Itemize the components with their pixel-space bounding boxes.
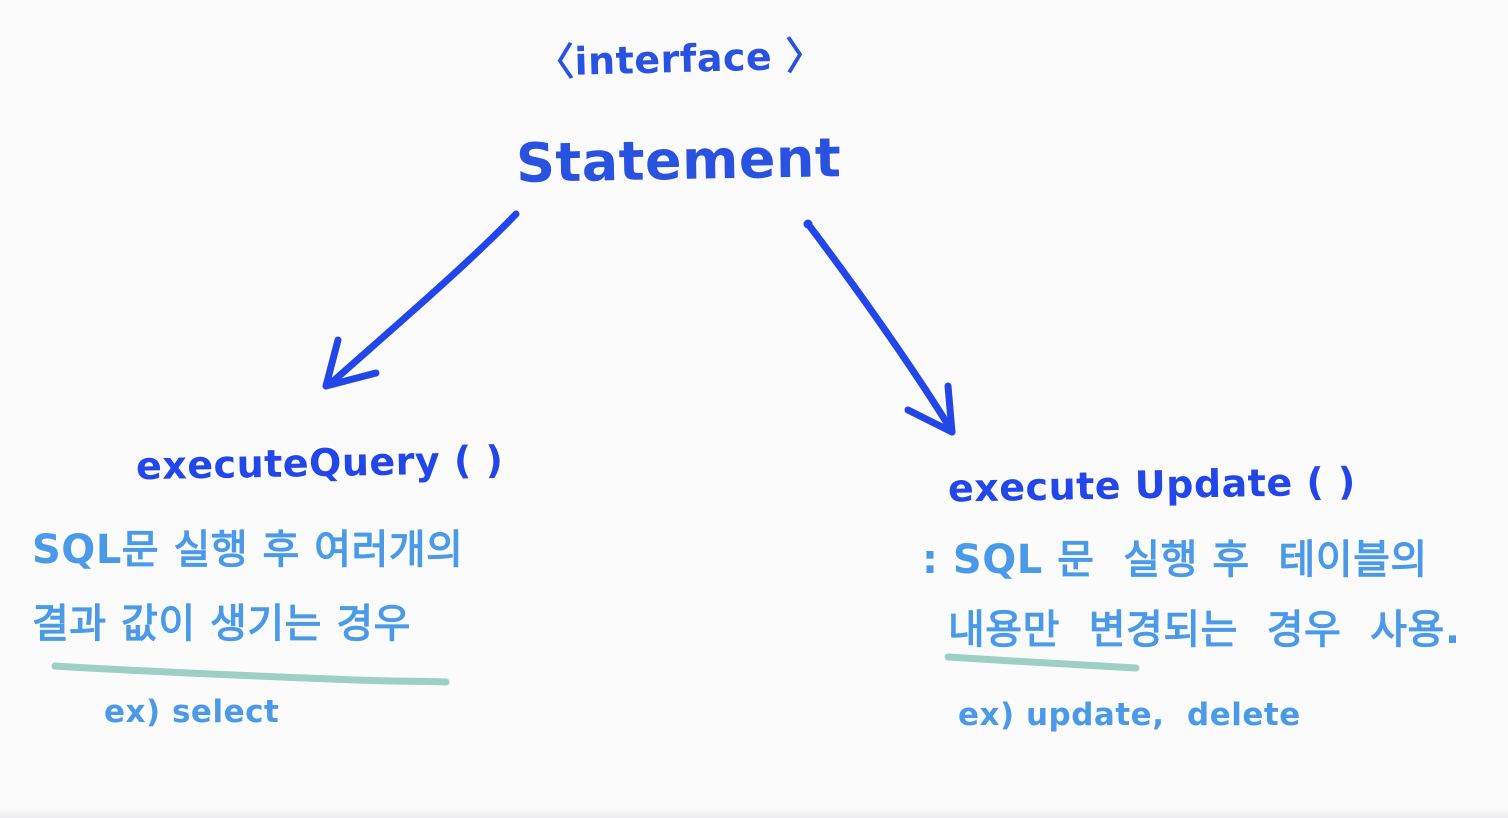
execute-query-description-line-2: 결과 값이 생기는 경우 [32,604,411,644]
arrow-to-execute-query [326,214,516,386]
arrow-to-execute-update [804,220,953,433]
execute-query-description-line-1: SQL문 실행 후 여러개의 [32,530,463,570]
execute-update-example-label: ex) update, delete [958,700,1301,731]
execute-update-method-label: execute Update ( ) [948,462,1356,507]
statement-class-title: Statement [516,131,842,191]
execute-query-green-underline [55,666,446,682]
execute-update-description-line-2: 내용만 변경되는 경우 사용. [948,610,1461,650]
interface-stereotype-label: 〈interface 〉 [536,36,825,82]
execute-query-example-label: ex) select [104,697,279,728]
execute-update-green-underline [948,657,1136,668]
handwritten-diagram-canvas: 〈interface 〉 Statement executeQuery ( ) … [0,0,1508,818]
execute-update-description-line-1: : SQL 문 실행 후 테이블의 [922,540,1428,580]
execute-query-method-label: executeQuery ( ) [136,441,504,485]
